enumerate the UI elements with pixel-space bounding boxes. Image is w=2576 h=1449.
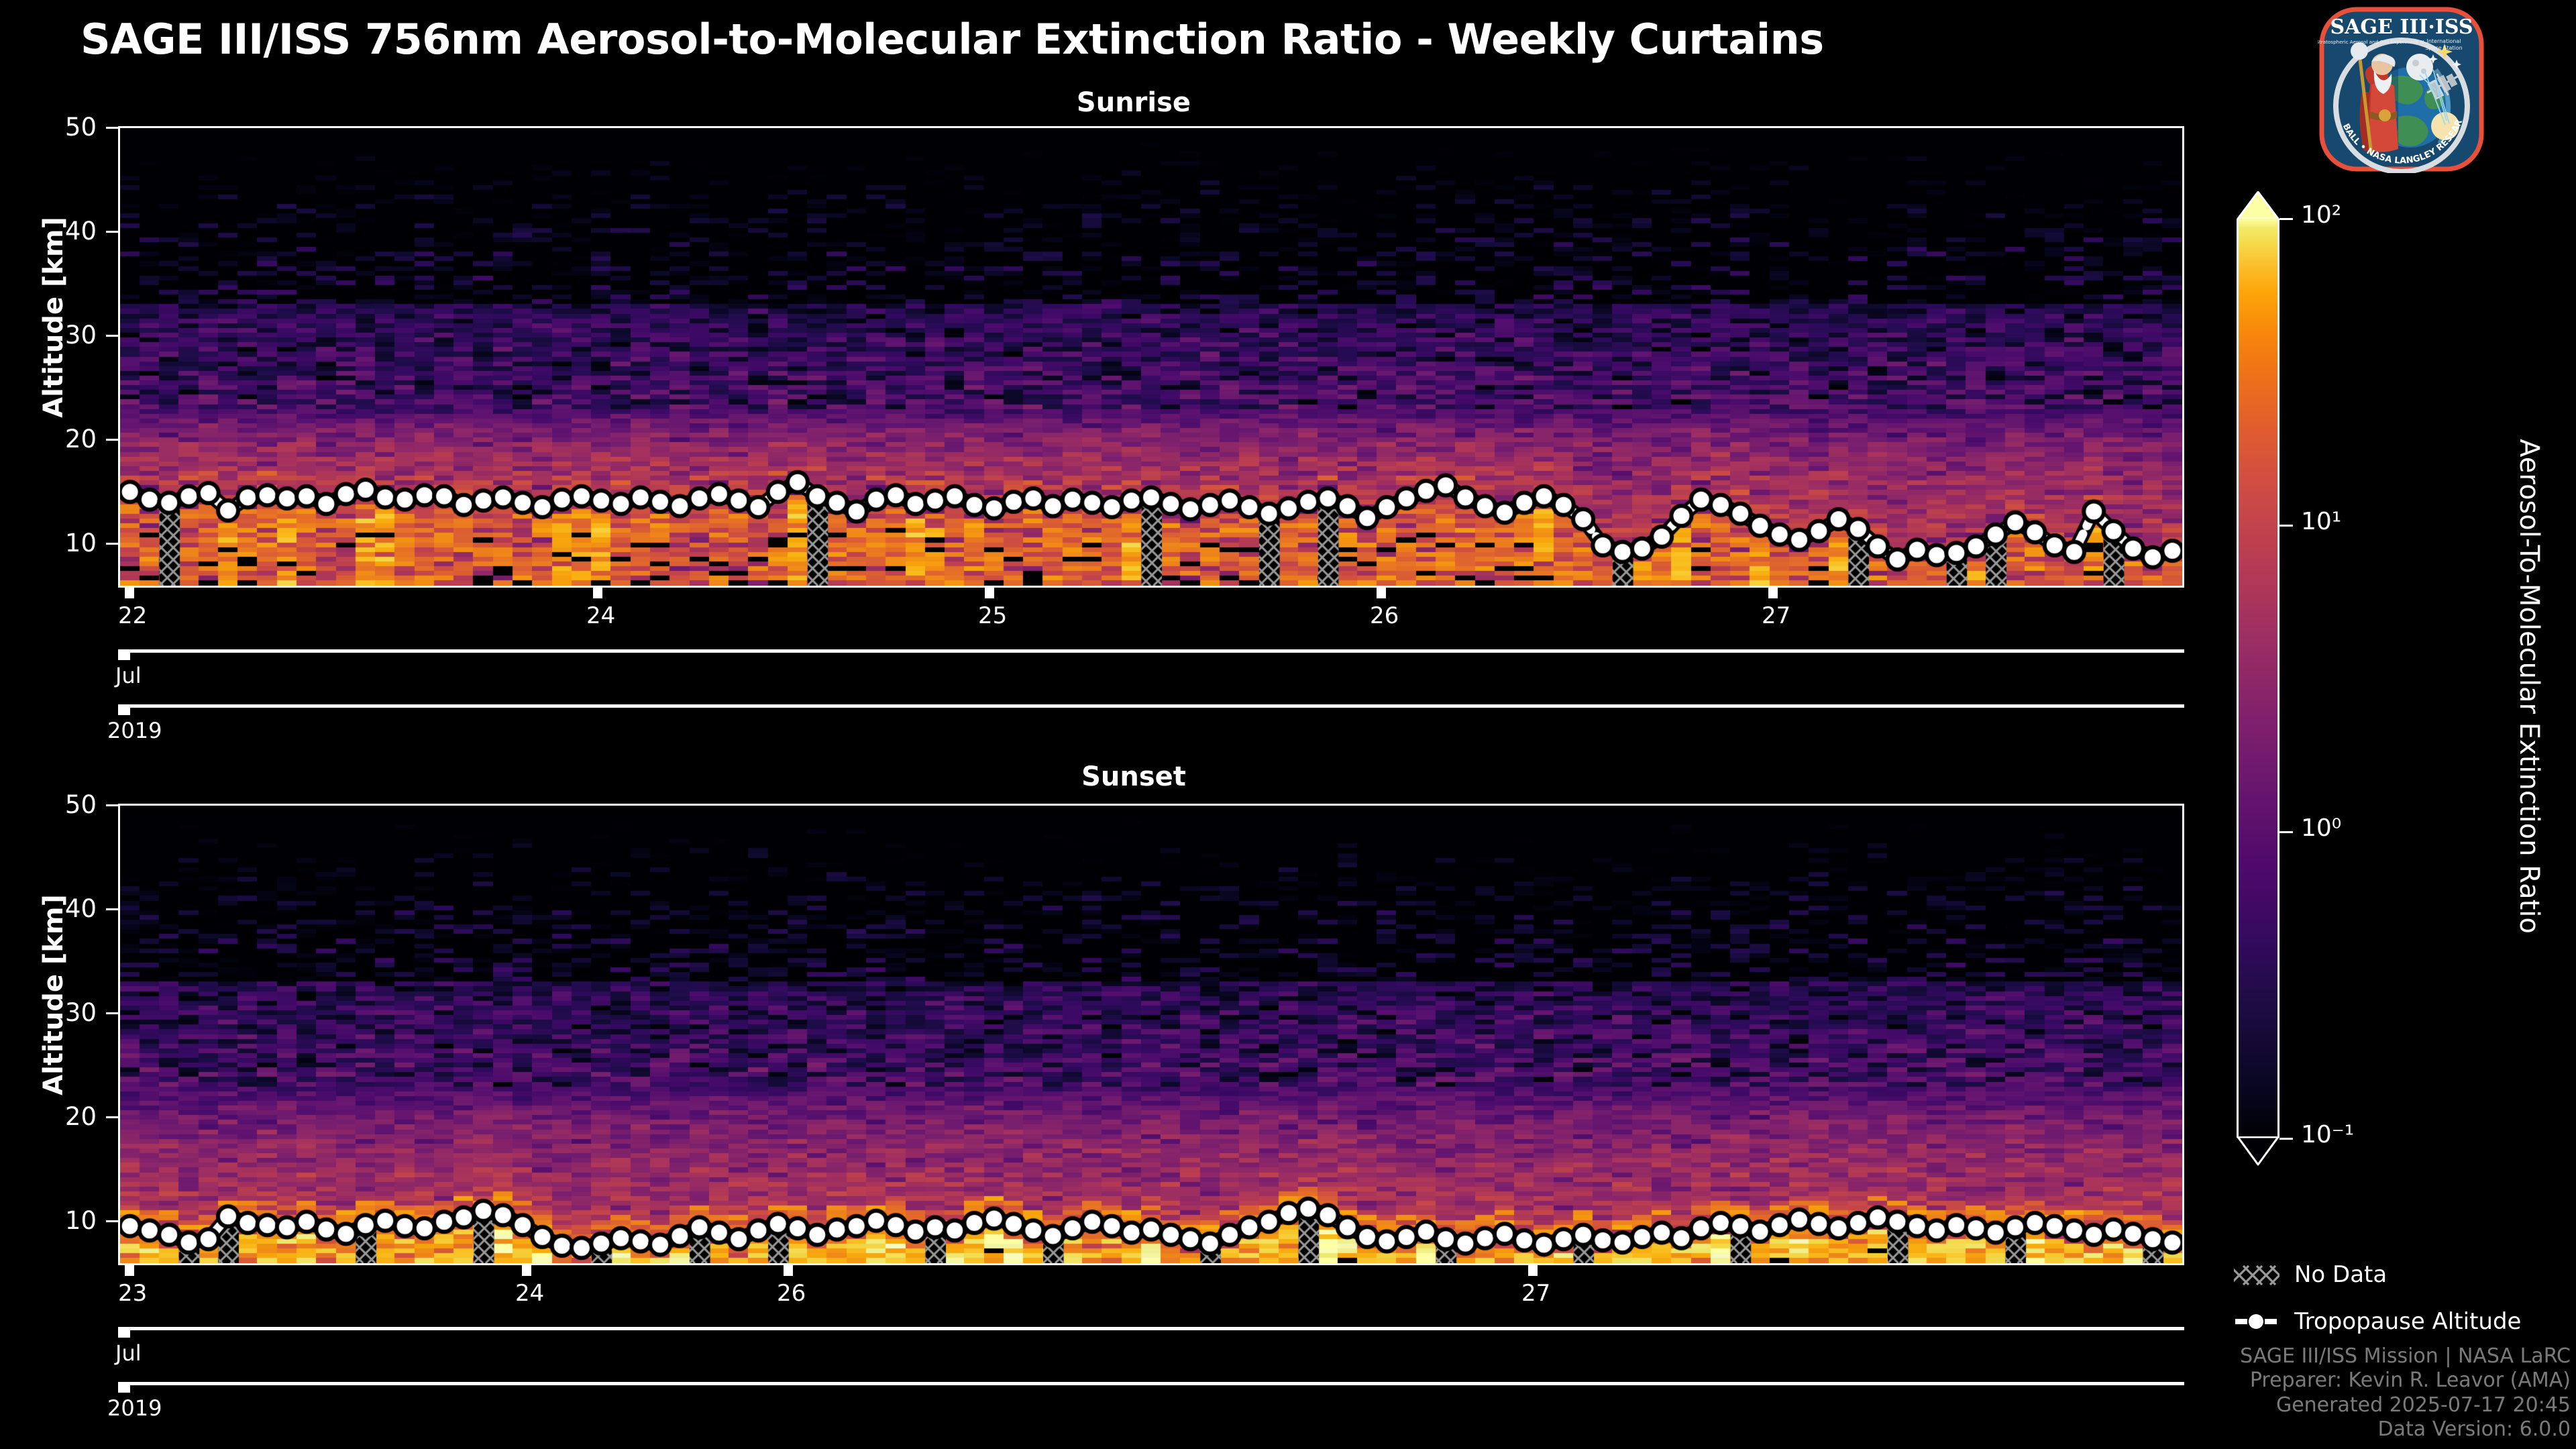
x-tickmark-sunset-3 (1528, 1265, 1538, 1276)
y-tickmark-sunrise-20 (106, 439, 118, 441)
x-tickmark-sunrise-4 (1768, 588, 1778, 598)
x-tick-sunset-23: 23 (118, 1280, 147, 1307)
x-tickmark-sunrise-0 (125, 588, 134, 598)
page-title: SAGE III/ISS 756nm Aerosol-to-Molecular … (80, 15, 1824, 64)
x-tickmark-sunrise-3 (1377, 588, 1386, 598)
x-tickmark-sunrise-2 (985, 588, 994, 598)
y-tickmark-sunset-20 (106, 1116, 118, 1118)
cbar-tick-label-01: 10⁻¹ (2301, 1121, 2354, 1148)
y-tickmark-sunrise-10 (106, 543, 118, 545)
x-tickmark-sunset-1 (522, 1265, 531, 1276)
y-tick-sunrise-20: 20 (0, 425, 97, 453)
x-tick-sunrise-24: 24 (586, 602, 615, 629)
cbar-tickmark-10 (2279, 525, 2293, 527)
y-tickmark-sunrise-30 (106, 335, 118, 337)
svg-text:Space Station: Space Station (2425, 45, 2462, 51)
x-month-tickmark-sunset (118, 1327, 130, 1338)
cbar-tick-label-10: 10¹ (2301, 508, 2341, 535)
svg-text:SAGE III·ISS: SAGE III·ISS (2330, 15, 2473, 39)
y-tickmark-sunrise-50 (106, 127, 118, 129)
y-tick-sunset-20: 20 (0, 1102, 97, 1131)
legend-label-tropopause: Tropopause Altitude (2294, 1308, 2521, 1335)
y-tickmark-sunset-40 (106, 908, 118, 910)
y-tick-sunset-50: 50 (0, 790, 97, 819)
y-tickmark-sunset-30 (106, 1012, 118, 1014)
x-year-tickmark-sunrise (118, 704, 130, 715)
y-tickmark-sunrise-40 (106, 231, 118, 233)
cbar-tickmark-01 (2279, 1138, 2293, 1140)
mission-logo: SAGE III·ISS Stratospheric Aerosol and G… (2318, 5, 2485, 176)
y-tick-sunset-30: 30 (0, 998, 97, 1027)
x-year-tickmark-sunset (118, 1382, 130, 1393)
x-tickmark-sunset-2 (784, 1265, 793, 1276)
x-tick-sunset-27: 27 (1521, 1280, 1550, 1307)
svg-text:Stratospheric Aerosol and Gas: Stratospheric Aerosol and Gas Experiment… (2318, 39, 2424, 45)
svg-text:International: International (2426, 38, 2461, 44)
y-tick-sunrise-40: 40 (0, 217, 97, 246)
cbar-tickmark-1 (2279, 831, 2293, 833)
footer-credits: SAGE III/ISS Mission | NASA LaRC Prepare… (1766, 1344, 2571, 1442)
heatmap-sunset[interactable] (118, 804, 2184, 1265)
x-tick-sunset-24: 24 (515, 1280, 544, 1307)
no-data-hatch-icon (2234, 1262, 2279, 1287)
x-tick-sunset-26: 26 (777, 1280, 806, 1307)
x-tick-sunrise-26: 26 (1370, 602, 1399, 629)
y-tickmark-sunset-50 (106, 804, 118, 806)
y-tick-sunrise-30: 30 (0, 321, 97, 350)
colorbar-axis-label: Aerosol-To-Molecular Extinction Ratio (2514, 351, 2544, 1022)
x-tick-sunrise-25: 25 (978, 602, 1007, 629)
x-month-label-sunrise: Jul (115, 663, 142, 688)
panel-title-sunset: Sunset (67, 761, 2200, 792)
panel-title-sunrise: Sunrise (67, 87, 2200, 118)
legend-label-no-data: No Data (2294, 1261, 2387, 1288)
x-year-rule-sunrise (118, 704, 2184, 708)
x-month-rule-sunrise (118, 649, 2184, 653)
legend-item-no-data: No Data (2234, 1261, 2387, 1288)
heatmap-sunrise[interactable] (118, 126, 2184, 588)
x-tickmark-sunset-0 (125, 1265, 134, 1276)
figure-root: SAGE III/ISS 756nm Aerosol-to-Molecular … (0, 0, 2576, 1449)
x-tick-sunrise-27: 27 (1762, 602, 1790, 629)
x-month-tickmark-sunrise (118, 649, 130, 660)
x-year-label-sunset: 2019 (107, 1395, 162, 1421)
y-tickmark-sunset-10 (106, 1220, 118, 1222)
x-year-label-sunrise: 2019 (107, 718, 162, 743)
x-month-label-sunset: Jul (115, 1340, 142, 1366)
cbar-tickmark-100 (2279, 218, 2293, 220)
legend-item-tropopause: Tropopause Altitude (2234, 1308, 2521, 1335)
cbar-tick-label-1: 10⁰ (2301, 814, 2341, 842)
x-tickmark-sunrise-1 (593, 588, 602, 598)
y-tick-sunset-10: 10 (0, 1206, 97, 1235)
y-tick-sunset-40: 40 (0, 894, 97, 923)
x-month-rule-sunset (118, 1327, 2184, 1330)
tropopause-line-icon (2234, 1311, 2279, 1332)
x-tick-sunrise-22: 22 (118, 602, 147, 629)
y-tick-sunrise-10: 10 (0, 529, 97, 557)
y-tick-sunrise-50: 50 (0, 113, 97, 142)
cbar-tick-label-100: 10² (2301, 201, 2341, 229)
